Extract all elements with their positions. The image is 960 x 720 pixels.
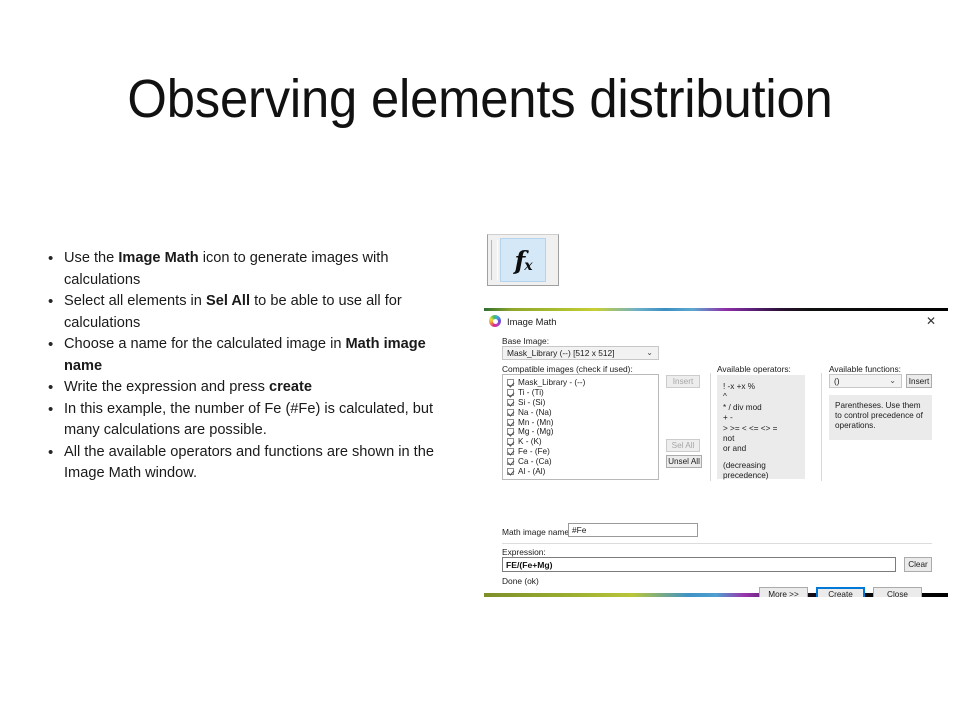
checkbox-checked-icon[interactable] (507, 419, 514, 426)
list-item[interactable]: Mg - (Mg) (505, 427, 658, 437)
list-item: •Write the expression and press create (44, 377, 444, 399)
unselect-all-button[interactable]: Unsel All (666, 455, 702, 468)
dialog-body: Base Image: Mask_Library (--) [512 x 512… (484, 331, 948, 593)
list-item-text: Select all elements in Sel All to be abl… (64, 291, 444, 334)
bullet-marker-icon: • (44, 377, 64, 399)
status-text: Done (ok) (502, 576, 539, 586)
list-item-label: Mg - (Mg) (518, 427, 553, 436)
list-item-label: Fe - (Fe) (518, 447, 550, 456)
list-item-text: Choose a name for the calculated image i… (64, 334, 444, 377)
divider (710, 373, 711, 481)
expression-value: FE/(Fe+Mg) (506, 560, 553, 570)
list-item-label: Si - (Si) (518, 398, 545, 407)
list-item: •Use the Image Math icon to generate ima… (44, 248, 444, 291)
math-image-name-value: #Fe (572, 525, 586, 535)
checkbox-checked-icon[interactable] (507, 409, 514, 416)
insert-image-button[interactable]: Insert (666, 375, 700, 388)
image-math-fx-button[interactable]: fx (500, 238, 546, 282)
list-item: •Select all elements in Sel All to be ab… (44, 291, 444, 334)
compatible-images-listbox[interactable]: Mask_Library - (--)Ti - (Ti)Si - (Si)Na … (502, 374, 659, 480)
close-button[interactable]: Close (873, 587, 922, 597)
list-item-label: Ca - (Ca) (518, 457, 552, 466)
dialog-title: Image Math (507, 316, 557, 327)
list-item-text: In this example, the number of Fe (#Fe) … (64, 399, 444, 442)
bullet-marker-icon: • (44, 399, 64, 421)
fx-icon: fx (514, 248, 531, 273)
checkbox-checked-icon[interactable] (507, 389, 514, 396)
checkbox-checked-icon[interactable] (507, 379, 514, 386)
more-button[interactable]: More >> (759, 587, 808, 597)
bullet-marker-icon: • (44, 248, 64, 270)
list-item[interactable]: K - (K) (505, 437, 658, 447)
chevron-down-icon: ⌄ (646, 348, 653, 357)
list-item[interactable]: Ti - (Ti) (505, 388, 658, 398)
function-description: Parentheses. Use them to control precede… (829, 395, 932, 440)
list-item[interactable]: Ca - (Ca) (505, 456, 658, 466)
close-icon[interactable]: ✕ (922, 312, 940, 330)
clear-button[interactable]: Clear (904, 557, 932, 572)
list-item[interactable]: Mn - (Mn) (505, 417, 658, 427)
operator-line: ! -x +x % (723, 382, 799, 392)
list-item-label: K - (K) (518, 437, 542, 446)
available-operators-label: Available operators: (717, 364, 791, 374)
available-functions-select[interactable]: () ⌄ (829, 374, 902, 388)
available-functions-label: Available functions: (829, 364, 901, 374)
page-title: Observing elements distribution (29, 68, 931, 130)
operator-line: > >= < <= <> = (723, 424, 799, 434)
compatible-images-label: Compatible images (check if used): (502, 364, 633, 374)
base-image-label: Base Image: (502, 336, 549, 346)
list-item[interactable]: Si - (Si) (505, 398, 658, 408)
base-image-select[interactable]: Mask_Library (--) [512 x 512] ⌄ (502, 346, 659, 360)
operator-line: ^ (723, 392, 799, 402)
dialog-titlebar[interactable]: Image Math ✕ (484, 311, 948, 331)
list-item-text: All the available operators and function… (64, 442, 444, 485)
bullet-marker-icon: • (44, 334, 64, 356)
divider (821, 373, 822, 481)
list-item-label: Mn - (Mn) (518, 418, 553, 427)
bullet-list: •Use the Image Math icon to generate ima… (44, 248, 444, 485)
expression-label: Expression: (502, 547, 546, 557)
image-math-toolbar: fx (487, 234, 559, 286)
checkbox-checked-icon[interactable] (507, 448, 514, 455)
operator-line: + - (723, 413, 799, 423)
list-item[interactable]: Fe - (Fe) (505, 447, 658, 457)
list-item-text: Write the expression and press create (64, 377, 444, 399)
list-item-label: Ti - (Ti) (518, 388, 544, 397)
toolbar-grip[interactable] (491, 240, 498, 280)
bullet-marker-icon: • (44, 291, 64, 313)
base-image-value: Mask_Library (--) [512 x 512] (507, 348, 615, 358)
list-item[interactable]: Mask_Library - (--) (505, 378, 658, 388)
image-math-dialog: Image Math ✕ Base Image: Mask_Library (-… (484, 308, 948, 597)
checkbox-checked-icon[interactable] (507, 468, 514, 475)
list-item: •All the available operators and functio… (44, 442, 444, 485)
operator-precedence-note: (decreasing precedence) (723, 461, 799, 482)
list-item-label: Al - (Al) (518, 467, 545, 476)
insert-function-button[interactable]: Insert (906, 374, 932, 388)
checkbox-checked-icon[interactable] (507, 458, 514, 465)
operator-line: not (723, 434, 799, 444)
app-pinwheel-icon (489, 315, 501, 327)
chevron-down-icon: ⌄ (889, 376, 896, 385)
checkbox-checked-icon[interactable] (507, 428, 514, 435)
available-operators-panel: ! -x +x %^* / div mod+ -> >= < <= <> =no… (717, 375, 805, 479)
math-image-name-input[interactable]: #Fe (568, 523, 698, 537)
expression-input[interactable]: FE/(Fe+Mg) (502, 557, 896, 572)
list-item-text: Use the Image Math icon to generate imag… (64, 248, 444, 291)
list-item: •Choose a name for the calculated image … (44, 334, 444, 377)
create-button[interactable]: Create (816, 587, 865, 597)
operator-line: or and (723, 444, 799, 454)
select-all-button[interactable]: Sel All (666, 439, 700, 452)
divider (502, 543, 932, 544)
list-item-label: Mask_Library - (--) (518, 378, 585, 387)
math-image-name-label: Math image name: (502, 527, 571, 537)
checkbox-checked-icon[interactable] (507, 438, 514, 445)
list-item: •In this example, the number of Fe (#Fe)… (44, 399, 444, 442)
list-item[interactable]: Al - (Al) (505, 466, 658, 476)
operator-line: * / div mod (723, 403, 799, 413)
list-item-label: Na - (Na) (518, 408, 552, 417)
bullet-marker-icon: • (44, 442, 64, 464)
checkbox-checked-icon[interactable] (507, 399, 514, 406)
list-item[interactable]: Na - (Na) (505, 407, 658, 417)
available-functions-value: () (834, 376, 840, 386)
